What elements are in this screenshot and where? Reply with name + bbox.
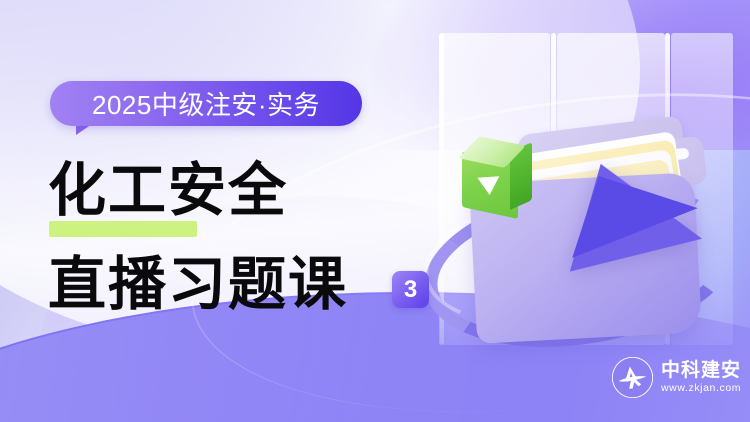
episode-number-badge: 3 [392,271,429,308]
green-play-cube-icon [462,143,532,213]
page-title-line-1: 化工安全 [48,158,288,222]
course-category-badge: 2025中级注安·实务 [50,81,362,126]
course-banner: 2025中级注安·实务 化工安全 直播习题课 3 中科建安 www.zkjan.… [0,0,750,422]
brand-logo-text: 中科建安 www.zkjan.com [661,360,741,395]
course-category-label: 2025中级注安·实务 [92,85,320,122]
zkjan-logo-glyph [612,357,653,398]
zkjan-logo-icon [612,357,653,398]
episode-number-label: 3 [404,276,417,304]
brand-url: www.zkjan.com [661,381,741,395]
brand-logo: 中科建安 www.zkjan.com [612,357,741,398]
page-title-line-2: 直播习题课 [48,252,348,316]
brand-name: 中科建安 [661,360,741,381]
play-triangle-icon [477,176,500,195]
